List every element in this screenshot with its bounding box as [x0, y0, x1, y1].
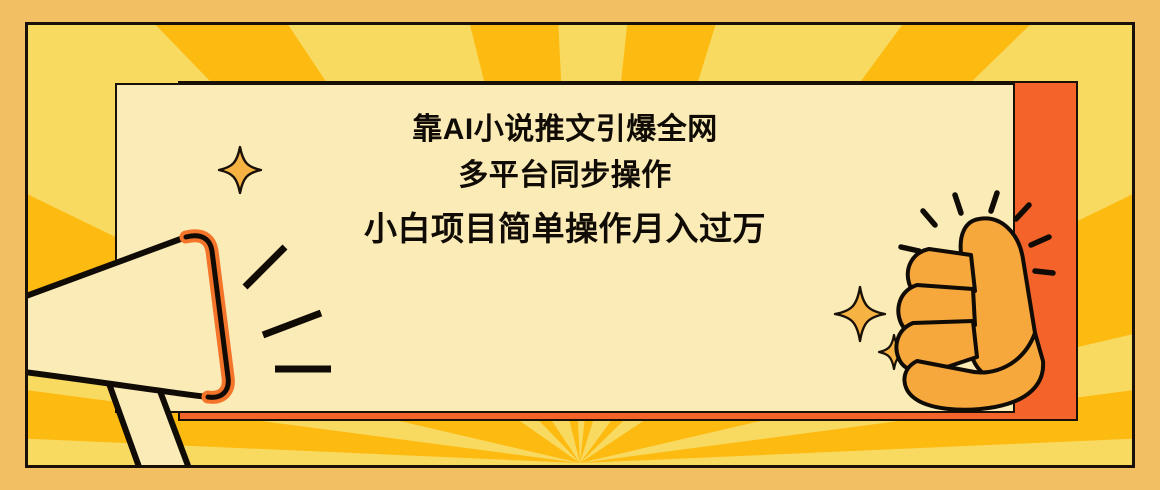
poster-canvas: 靠AI小说推文引爆全网 多平台同步操作 小白项目简单操作月入过万	[0, 0, 1160, 490]
megaphone-icon	[28, 225, 310, 465]
thumbs-up-icon	[883, 173, 1083, 423]
panel-inner-clip: 靠AI小说推文引爆全网 多平台同步操作 小白项目简单操作月入过万	[28, 25, 1132, 465]
sparkle-icon	[217, 145, 263, 195]
poster-inner-panel: 靠AI小说推文引爆全网 多平台同步操作 小白项目简单操作月入过万	[25, 22, 1135, 468]
